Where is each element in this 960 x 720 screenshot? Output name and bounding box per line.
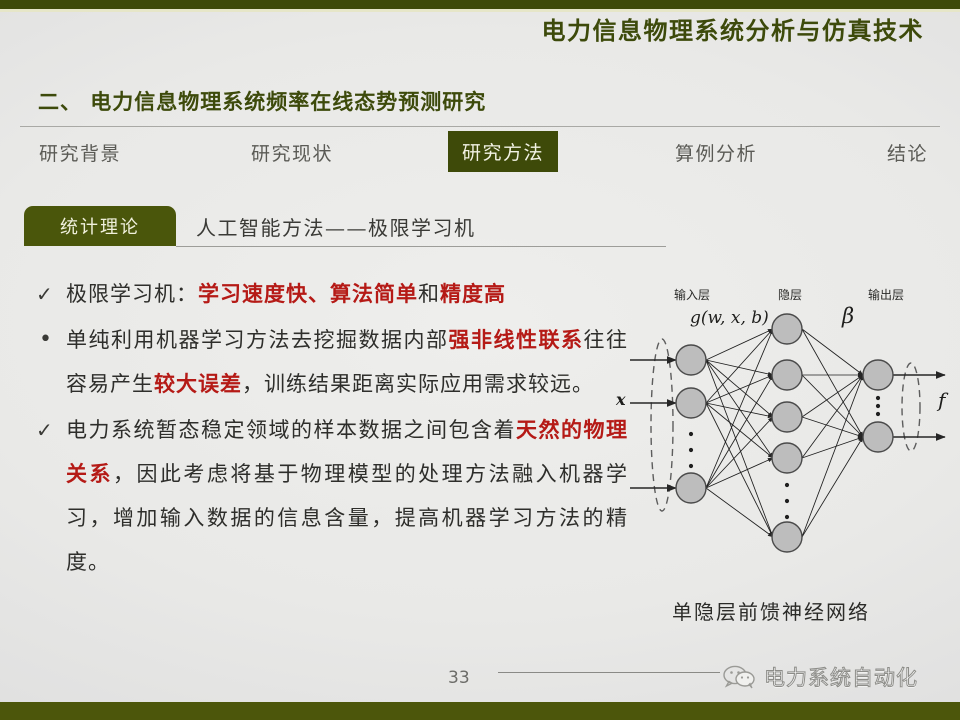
heading-divider xyxy=(20,126,940,127)
tab-conclusion[interactable]: 结论 xyxy=(878,134,937,171)
brand-name: 电力系统自动化 xyxy=(764,662,918,692)
output-variable-label: f xyxy=(938,388,945,412)
activation-function-label: g(w, x, b) xyxy=(690,308,769,328)
text-run: ，因此考虑将基于物理模型的处理方法融入机器学习，增加输入数据的信息含量，提高机器… xyxy=(66,462,628,574)
section-heading: 二、 电力信息物理系统频率在线态势预测研究 xyxy=(38,86,486,116)
body-content: ✓ 极限学习机：学习速度快、算法简单和精度高 • 单纯利用机器学习方法去挖掘数据… xyxy=(28,272,628,586)
input-variable-label: x xyxy=(616,390,626,409)
footer-divider xyxy=(498,672,720,673)
layer-label-hidden: 隐层 xyxy=(778,286,802,303)
topic-divider xyxy=(176,246,666,247)
slide-canvas: 电力信息物理系统分析与仿真技术 二、 电力信息物理系统频率在线态势预测研究 研究… xyxy=(0,0,960,720)
check-icon: ✓ xyxy=(36,408,53,452)
input-ellipsis-dots xyxy=(689,432,693,468)
bullet-block: ✓ 极限学习机：学习速度快、算法简单和精度高 xyxy=(28,272,628,316)
bullet-block: • 单纯利用机器学习方法去挖掘数据内部强非线性联系往往容易产生较大误差，训练结果… xyxy=(28,318,628,406)
neural-network-diagram xyxy=(630,272,960,592)
page-number: 33 xyxy=(448,668,470,688)
bottom-accent-bar xyxy=(0,702,960,720)
bullet-text: 单纯利用机器学习方法去挖掘数据内部强非线性联系往往容易产生较大误差，训练结果距离… xyxy=(66,318,628,406)
deck-title: 电力信息物理系统分析与仿真技术 xyxy=(542,11,925,46)
check-icon: ✓ xyxy=(36,272,53,316)
hidden-ellipsis-dots xyxy=(785,483,789,519)
tab-research-method[interactable]: 研究方法 xyxy=(448,131,558,172)
text-run: 单纯利用机器学习方法去挖掘数据内部 xyxy=(66,328,449,352)
output-ellipsis-dots xyxy=(876,396,880,416)
topic-title: 人工智能方法——极限学习机 xyxy=(196,212,476,241)
topic-badge: 统计理论 xyxy=(24,206,176,246)
input-bundle-ellipse xyxy=(651,339,673,511)
text-run: 和 xyxy=(418,282,440,306)
figure-caption: 单隐层前馈神经网络 xyxy=(672,596,870,625)
beta-weight-label: β xyxy=(842,304,854,328)
brand-watermark: 电力系统自动化 xyxy=(722,662,918,692)
bullet-text: 电力系统暂态稳定领域的样本数据之间包含着天然的物理关系，因此考虑将基于物理模型的… xyxy=(66,408,628,584)
topic-badge-label: 统计理论 xyxy=(60,213,140,239)
bullet-block: ✓ 电力系统暂态稳定领域的样本数据之间包含着天然的物理关系，因此考虑将基于物理模… xyxy=(28,408,628,584)
tab-research-background[interactable]: 研究背景 xyxy=(30,134,130,171)
text-run-highlight: 学习速度快、算法简单 xyxy=(198,281,418,306)
text-run: 极限学习机： xyxy=(66,282,198,306)
layer-label-output: 输出层 xyxy=(868,286,904,303)
section-nav: 研究背景 研究现状 研究方法 算例分析 结论 xyxy=(20,130,940,174)
text-run-highlight: 较大误差 xyxy=(154,371,242,396)
tab-research-status[interactable]: 研究现状 xyxy=(242,134,342,171)
dot-icon: • xyxy=(39,318,52,362)
bullet-text: 极限学习机：学习速度快、算法简单和精度高 xyxy=(66,272,628,316)
hidden-output-edges xyxy=(802,329,863,537)
text-run: 电力系统暂态稳定领域的样本数据之间包含着 xyxy=(66,418,516,442)
output-bundle-ellipse xyxy=(902,363,920,451)
input-nodes xyxy=(676,345,706,503)
tab-case-analysis[interactable]: 算例分析 xyxy=(666,134,766,171)
text-run: ，训练结果距离实际应用需求较远。 xyxy=(242,372,594,396)
input-hidden-edges xyxy=(706,329,773,537)
top-accent-bar xyxy=(0,0,960,9)
text-run-highlight: 强非线性联系 xyxy=(449,327,584,352)
text-run-highlight: 精度高 xyxy=(440,281,506,306)
layer-label-input: 输入层 xyxy=(674,286,710,303)
neural-network-figure: 输入层 隐层 输出层 g(w, x, b) β x f 单隐层前馈神经网络 xyxy=(630,272,960,632)
wechat-icon xyxy=(722,665,758,689)
